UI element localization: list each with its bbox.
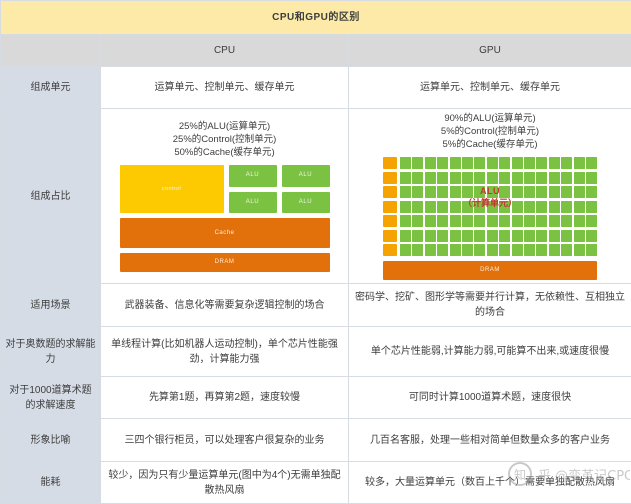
gpu-alu-cell	[574, 230, 585, 242]
gpu-alu-cell	[586, 244, 597, 256]
gpu-alu-cell	[536, 215, 547, 227]
cell-cpu-speed: 先算第1题，再算第2题，速度较慢	[101, 377, 349, 419]
gpu-alu-cell	[549, 157, 560, 169]
gpu-band	[383, 186, 597, 198]
gpu-alu-cell	[400, 157, 411, 169]
gpu-alu-cell	[512, 157, 523, 169]
gpu-alu-cell	[437, 186, 448, 198]
header-blank	[1, 35, 101, 67]
gpu-alu-cell	[487, 244, 498, 256]
gpu-alu-cell	[549, 230, 560, 242]
gpu-alu-cell	[425, 172, 436, 184]
gpu-alu-cell	[499, 230, 510, 242]
header-row: CPU GPU	[1, 35, 631, 67]
table-row: 适用场景 武器装备、信息化等需要复杂逻辑控制的场合 密码学、挖矿、图形学等需要并…	[1, 284, 631, 327]
gpu-alu-cell	[536, 201, 547, 213]
cpu-alu-block: ALU	[229, 165, 277, 187]
gpu-alu-cell	[487, 157, 498, 169]
gpu-alu-cell	[487, 201, 498, 213]
cell-gpu-analogy: 几百名客服，处理一些相对简单但数量众多的客户业务	[349, 419, 631, 462]
cell-cpu-math-ability: 单线程计算(比如机器人运动控制)，单个芯片性能强劲，计算能力强	[101, 327, 349, 377]
gpu-alu-cell	[400, 230, 411, 242]
gpu-alu-cell	[524, 186, 535, 198]
gpu-alu-cell	[425, 201, 436, 213]
gpu-alu-cell	[574, 244, 585, 256]
gpu-control-block	[383, 186, 397, 198]
gpu-alu-cell	[474, 172, 485, 184]
gpu-alu-cell	[549, 201, 560, 213]
table-row: 形象比喻 三四个银行柜员，可以处理客户很复杂的业务 几百名客服，处理一些相对简单…	[1, 419, 631, 462]
table-row: 组成单元 运算单元、控制单元、缓存单元 运算单元、控制单元、缓存单元	[1, 67, 631, 109]
gpu-alu-cell	[561, 157, 572, 169]
gpu-alu-cell	[524, 215, 535, 227]
cpu-architecture-diagram: control ALU ALU ALU ALU Cache DRAM	[120, 165, 330, 272]
gpu-alu-cell	[499, 201, 510, 213]
gpu-alu-cell	[487, 215, 498, 227]
cpu-cache-block: Cache	[120, 218, 330, 248]
gpu-dram-block: DRAM	[383, 261, 597, 280]
gpu-cell-row	[400, 186, 597, 198]
cell-gpu-scenario: 密码学、挖矿、图形学等需要并行计算，无依赖性、互相独立的场合	[349, 284, 631, 327]
gpu-alu-cell	[586, 172, 597, 184]
gpu-alu-cell	[524, 201, 535, 213]
title-row: CPU和GPU的区别	[1, 1, 631, 35]
gpu-alu-cell	[574, 201, 585, 213]
cpu-top-section: control ALU ALU ALU ALU	[120, 165, 330, 213]
cell-gpu-units: 运算单元、控制单元、缓存单元	[349, 67, 631, 109]
gpu-alu-cell	[536, 157, 547, 169]
gpu-alu-cell	[561, 201, 572, 213]
header-gpu: GPU	[349, 35, 631, 67]
gpu-pct-alu: 90%的ALU(运算单元)	[353, 112, 627, 125]
gpu-alu-cell	[425, 186, 436, 198]
gpu-alu-cell	[462, 186, 473, 198]
cpu-alu-block: ALU	[282, 165, 330, 187]
cpu-pct-alu: 25%的ALU(运算单元)	[105, 120, 344, 133]
gpu-alu-cell	[412, 157, 423, 169]
row-label-speed: 对于1000道算术题的求解速度	[1, 377, 101, 419]
gpu-alu-cell	[512, 230, 523, 242]
gpu-pct-control: 5%的Control(控制单元)	[353, 125, 627, 138]
gpu-alu-cell	[474, 201, 485, 213]
cpu-alu-block: ALU	[282, 192, 330, 214]
gpu-alu-cell	[474, 186, 485, 198]
gpu-alu-cell	[586, 157, 597, 169]
gpu-alu-cell	[487, 230, 498, 242]
table-row: 对于1000道算术题的求解速度 先算第1题，再算第2题，速度较慢 可同时计算10…	[1, 377, 631, 419]
row-label-scenario: 适用场景	[1, 284, 101, 327]
cell-cpu-ratio: 25%的ALU(运算单元) 25%的Control(控制单元) 50%的Cach…	[101, 109, 349, 284]
gpu-control-block	[383, 201, 397, 213]
row-label-analogy: 形象比喻	[1, 419, 101, 462]
gpu-alu-cell	[437, 244, 448, 256]
gpu-alu-cell	[450, 157, 461, 169]
gpu-alu-cell	[400, 201, 411, 213]
row-label-ratio: 组成占比	[1, 109, 101, 284]
gpu-alu-cell	[549, 215, 560, 227]
gpu-alu-cell	[412, 201, 423, 213]
gpu-alu-cell	[524, 230, 535, 242]
gpu-alu-cell	[512, 201, 523, 213]
cell-cpu-analogy: 三四个银行柜员，可以处理客户很复杂的业务	[101, 419, 349, 462]
gpu-control-block	[383, 215, 397, 227]
cell-cpu-scenario: 武器装备、信息化等需要复杂逻辑控制的场合	[101, 284, 349, 327]
gpu-alu-cell	[400, 244, 411, 256]
gpu-band	[383, 244, 597, 256]
gpu-alu-cell	[437, 230, 448, 242]
gpu-alu-cell	[437, 215, 448, 227]
gpu-alu-cell	[437, 172, 448, 184]
gpu-alu-cell	[450, 201, 461, 213]
gpu-alu-cell	[400, 215, 411, 227]
gpu-alu-cell	[474, 230, 485, 242]
gpu-cell-row	[400, 215, 597, 227]
gpu-alu-cell	[561, 186, 572, 198]
gpu-alu-cell	[536, 172, 547, 184]
gpu-alu-cell	[499, 186, 510, 198]
gpu-alu-cell	[524, 244, 535, 256]
gpu-alu-cell	[425, 230, 436, 242]
gpu-alu-cell	[425, 215, 436, 227]
gpu-control-block	[383, 244, 397, 256]
cell-gpu-ratio: 90%的ALU(运算单元) 5%的Control(控制单元) 5%的Cache(…	[349, 109, 631, 284]
cell-gpu-speed: 可同时计算1000道算术题，速度很快	[349, 377, 631, 419]
gpu-control-block	[383, 230, 397, 242]
gpu-alu-cell	[499, 172, 510, 184]
gpu-alu-cell	[499, 244, 510, 256]
gpu-band	[383, 230, 597, 242]
gpu-control-block	[383, 157, 397, 169]
gpu-alu-cell	[536, 230, 547, 242]
gpu-alu-cell	[574, 186, 585, 198]
gpu-cell-row	[400, 230, 597, 242]
cpu-alu-block: ALU	[229, 192, 277, 214]
gpu-percentages: 90%的ALU(运算单元) 5%的Control(控制单元) 5%的Cache(…	[353, 112, 627, 151]
gpu-alu-cell	[536, 186, 547, 198]
gpu-alu-cell	[474, 215, 485, 227]
gpu-band	[383, 157, 597, 169]
gpu-alu-cell	[561, 215, 572, 227]
gpu-alu-cell	[437, 157, 448, 169]
gpu-alu-cell	[512, 215, 523, 227]
gpu-alu-cell	[524, 157, 535, 169]
cpu-alu-group: ALU ALU ALU ALU	[229, 165, 330, 213]
gpu-cell-row	[400, 157, 597, 169]
gpu-alu-cell	[586, 186, 597, 198]
gpu-alu-cell	[437, 201, 448, 213]
gpu-alu-cell	[450, 215, 461, 227]
gpu-alu-cell	[549, 244, 560, 256]
gpu-alu-cell	[524, 172, 535, 184]
gpu-pct-cache: 5%的Cache(缓存单元)	[353, 138, 627, 151]
gpu-alu-cell	[474, 244, 485, 256]
gpu-cell-row	[400, 244, 597, 256]
gpu-alu-cell	[499, 215, 510, 227]
gpu-alu-cell	[462, 215, 473, 227]
gpu-alu-cell	[450, 244, 461, 256]
gpu-alu-cell	[400, 186, 411, 198]
gpu-alu-cell	[462, 244, 473, 256]
gpu-alu-cell	[474, 157, 485, 169]
gpu-band	[383, 201, 597, 213]
cell-gpu-power: 较多，大量运算单元（数百上千个）需要单独配散热风扇	[349, 462, 631, 504]
gpu-alu-cell	[412, 244, 423, 256]
cell-cpu-units: 运算单元、控制单元、缓存单元	[101, 67, 349, 109]
gpu-alu-cell	[425, 157, 436, 169]
gpu-alu-cell	[450, 186, 461, 198]
gpu-alu-cell	[400, 172, 411, 184]
gpu-alu-cell	[412, 230, 423, 242]
gpu-alu-cell	[425, 244, 436, 256]
gpu-alu-cell	[512, 244, 523, 256]
gpu-alu-cell	[412, 172, 423, 184]
row-label-math-ability: 对于奥数题的求解能力	[1, 327, 101, 377]
gpu-alu-cell	[462, 230, 473, 242]
cpu-pct-cache: 50%的Cache(缓存单元)	[105, 146, 344, 159]
table-row: 组成占比 25%的ALU(运算单元) 25%的Control(控制单元) 50%…	[1, 109, 631, 284]
gpu-alu-cell	[462, 201, 473, 213]
cell-gpu-math-ability: 单个芯片性能弱,计算能力弱,可能算不出来,或速度很慢	[349, 327, 631, 377]
gpu-alu-cell	[536, 244, 547, 256]
gpu-alu-cell	[549, 172, 560, 184]
gpu-alu-cell	[450, 172, 461, 184]
gpu-alu-cell	[586, 230, 597, 242]
cpu-dram-block: DRAM	[120, 253, 330, 272]
cpu-control-block: control	[120, 165, 224, 213]
gpu-alu-cell	[412, 215, 423, 227]
gpu-alu-cell	[462, 157, 473, 169]
gpu-alu-cell	[487, 172, 498, 184]
gpu-cell-row	[400, 201, 597, 213]
gpu-cell-row	[400, 172, 597, 184]
gpu-architecture-diagram: ALU （计算单元） DRAM	[383, 157, 597, 280]
gpu-alu-cell	[561, 244, 572, 256]
gpu-alu-cell	[586, 215, 597, 227]
gpu-alu-cell	[574, 157, 585, 169]
header-cpu: CPU	[101, 35, 349, 67]
gpu-band	[383, 215, 597, 227]
gpu-control-block	[383, 172, 397, 184]
gpu-alu-cell	[499, 157, 510, 169]
row-label-units: 组成单元	[1, 67, 101, 109]
cpu-pct-control: 25%的Control(控制单元)	[105, 133, 344, 146]
gpu-alu-cell	[512, 172, 523, 184]
gpu-alu-cell	[586, 201, 597, 213]
cpu-percentages: 25%的ALU(运算单元) 25%的Control(控制单元) 50%的Cach…	[105, 120, 344, 159]
gpu-band	[383, 172, 597, 184]
gpu-alu-cell	[450, 230, 461, 242]
gpu-alu-cell	[512, 186, 523, 198]
gpu-alu-cell	[462, 172, 473, 184]
gpu-alu-cell	[487, 186, 498, 198]
gpu-alu-grid	[383, 157, 597, 256]
gpu-alu-cell	[412, 186, 423, 198]
spreadsheet-canvas: CPU和GPU的区别 CPU GPU 组成单元 运算单元、控制单元、缓存单元 运…	[0, 0, 631, 500]
comparison-table: CPU和GPU的区别 CPU GPU 组成单元 运算单元、控制单元、缓存单元 运…	[0, 0, 631, 504]
gpu-alu-cell	[561, 172, 572, 184]
gpu-alu-cell	[574, 215, 585, 227]
table-row: 对于奥数题的求解能力 单线程计算(比如机器人运动控制)，单个芯片性能强劲，计算能…	[1, 327, 631, 377]
gpu-alu-cell	[549, 186, 560, 198]
cell-cpu-power: 较少，因为只有少量运算单元(图中为4个)无需单独配散热风扇	[101, 462, 349, 504]
gpu-alu-cell	[561, 230, 572, 242]
page-title: CPU和GPU的区别	[1, 1, 631, 35]
gpu-alu-cell	[574, 172, 585, 184]
row-label-power: 能耗	[1, 462, 101, 504]
table-row: 能耗 较少，因为只有少量运算单元(图中为4个)无需单独配散热风扇 较多，大量运算…	[1, 462, 631, 504]
